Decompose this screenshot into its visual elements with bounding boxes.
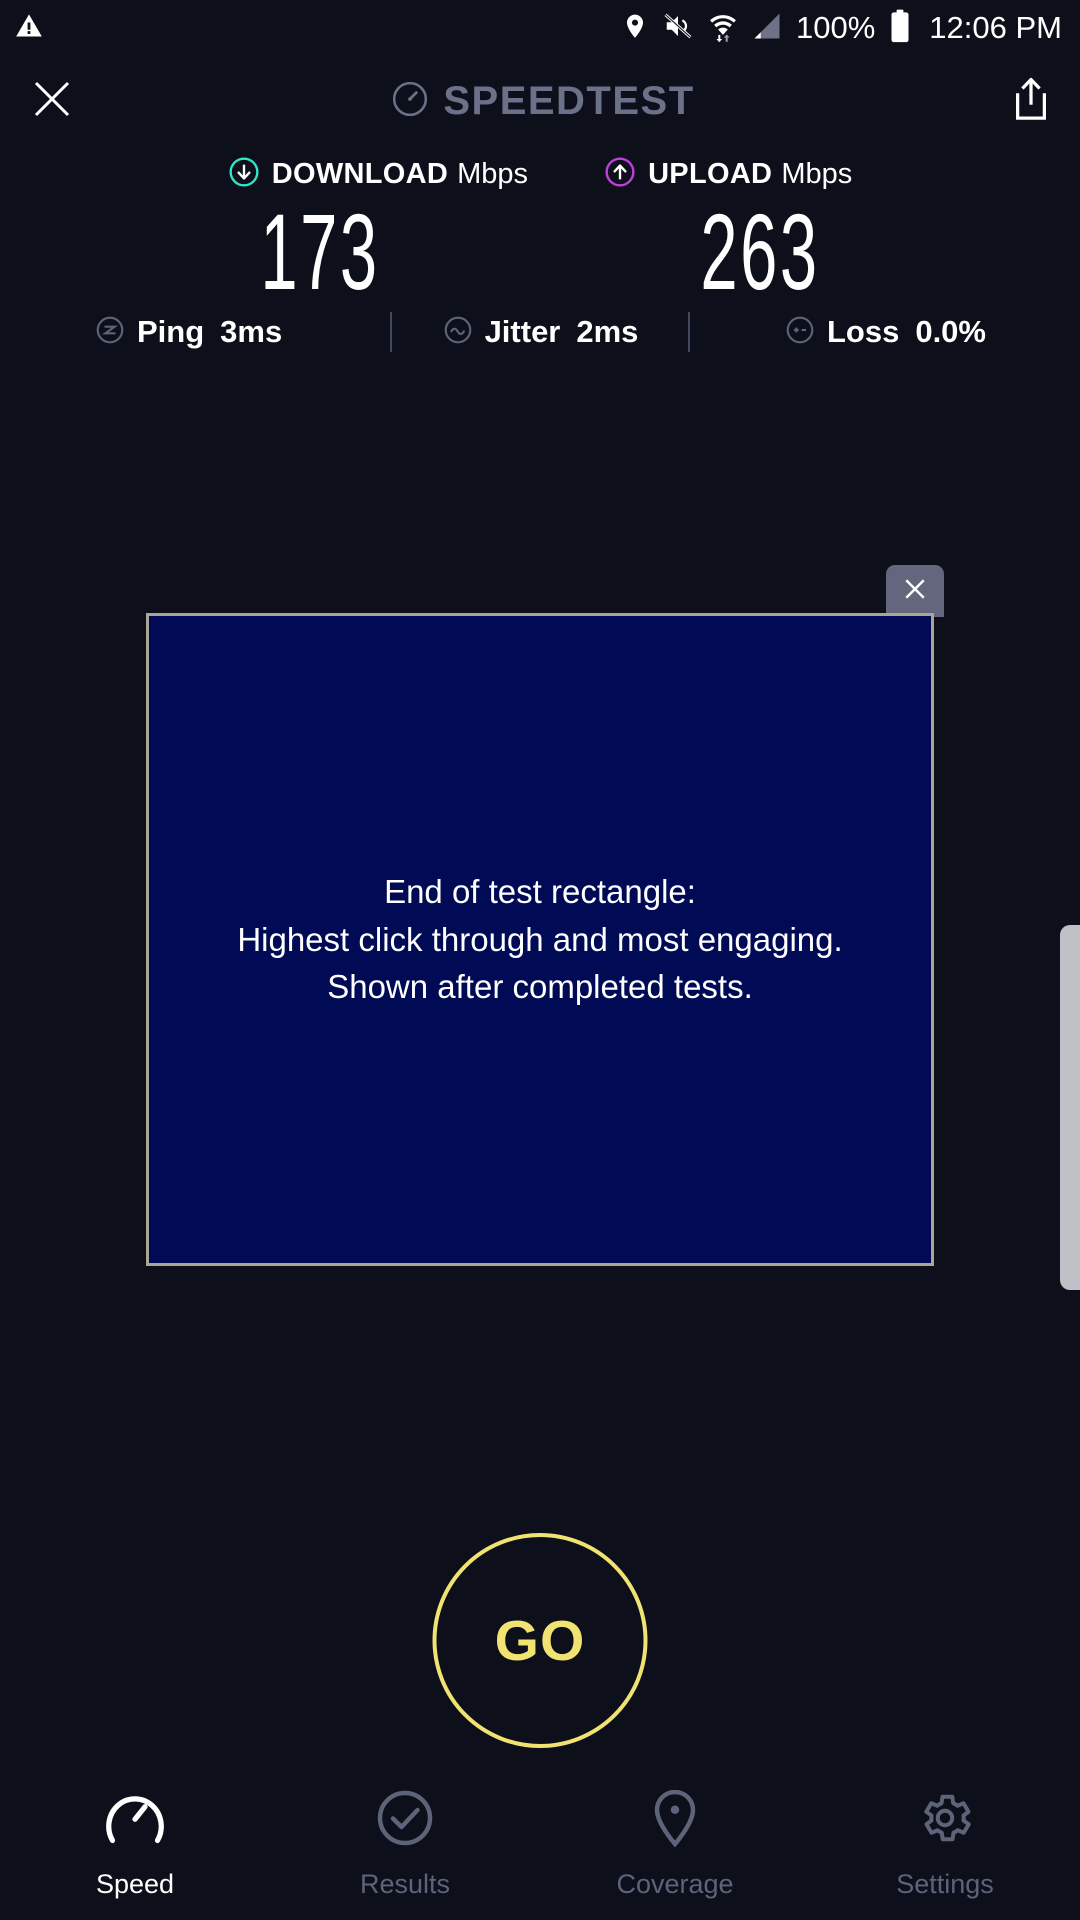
network-stats-row: Ping 3ms Jitter 2ms <box>0 300 1080 364</box>
tab-settings-label: Settings <box>896 1869 994 1900</box>
brand: SPEEDTEST <box>391 79 694 124</box>
upload-unit: Mbps <box>781 158 852 191</box>
status-bar-right: 100% 12:06 PM <box>622 9 1062 48</box>
go-button-label: GO <box>495 1608 586 1674</box>
speedometer-icon <box>102 1788 168 1853</box>
cellular-signal-icon <box>752 12 782 45</box>
volume-muted-icon <box>662 11 694 46</box>
page-title: SPEEDTEST <box>443 79 694 124</box>
wifi-icon <box>708 10 738 47</box>
tab-speed-label: Speed <box>96 1869 174 1900</box>
download-unit: Mbps <box>457 158 528 191</box>
tab-speed[interactable]: Speed <box>0 1788 270 1900</box>
jitter-label: Jitter <box>485 314 561 350</box>
android-status-bar: 100% 12:06 PM <box>0 0 1080 56</box>
jitter-value: 2ms <box>576 314 638 350</box>
map-pin-icon <box>647 1788 703 1853</box>
download-label: DOWNLOAD <box>272 158 448 191</box>
download-arrow-icon <box>228 156 260 193</box>
clock-label: 12:06 PM <box>929 10 1062 46</box>
close-icon[interactable] <box>28 75 76 128</box>
upload-label: UPLOAD <box>648 158 772 191</box>
upload-header: UPLOAD Mbps <box>604 156 852 193</box>
tab-coverage-label: Coverage <box>616 1869 733 1900</box>
tab-results-label: Results <box>360 1869 450 1900</box>
gear-icon <box>914 1788 976 1853</box>
warning-triangle-icon <box>14 12 44 45</box>
status-bar-left <box>14 12 44 45</box>
metric-headers: DOWNLOAD Mbps UPLOAD Mbps <box>0 148 1080 200</box>
tab-settings[interactable]: Settings <box>810 1788 1080 1900</box>
speedometer-icon <box>391 80 429 123</box>
metric-values: 173 263 <box>0 198 1080 306</box>
jitter-icon <box>442 314 474 351</box>
download-value: 173 <box>239 198 400 306</box>
battery-full-icon <box>889 9 911 48</box>
speedtest-app-screen: 100% 12:06 PM <box>0 0 1080 1920</box>
ad-line-3: Shown after completed tests. <box>237 963 842 1011</box>
ad-text-block: End of test rectangle: Highest click thr… <box>237 868 842 1012</box>
upload-arrow-icon <box>604 156 636 193</box>
stat-loss: Loss 0.0% <box>690 314 986 351</box>
ping-value: 3ms <box>220 314 282 350</box>
close-icon <box>900 574 930 609</box>
tab-results[interactable]: Results <box>270 1788 540 1900</box>
advertisement-banner[interactable]: End of test rectangle: Highest click thr… <box>146 613 934 1266</box>
ad-line-2: Highest click through and most engaging. <box>237 916 842 964</box>
stat-ping: Ping 3ms <box>94 314 390 351</box>
ad-close-button[interactable] <box>886 565 944 617</box>
download-header: DOWNLOAD Mbps <box>228 156 528 193</box>
loss-value: 0.0% <box>915 314 986 350</box>
check-circle-icon <box>374 1788 436 1853</box>
bottom-tab-bar: Speed Results Coverage <box>0 1772 1080 1920</box>
share-icon[interactable] <box>1010 76 1052 127</box>
battery-percent-label: 100% <box>796 10 875 46</box>
stat-jitter: Jitter 2ms <box>392 314 688 351</box>
loss-label: Loss <box>827 314 899 350</box>
location-pin-icon <box>622 11 648 46</box>
loss-icon <box>784 314 816 351</box>
ping-icon <box>94 314 126 351</box>
upload-value: 263 <box>679 198 840 306</box>
ping-label: Ping <box>137 314 204 350</box>
go-button[interactable]: GO <box>433 1533 648 1748</box>
results-summary: DOWNLOAD Mbps UPLOAD Mbps 173 263 <box>0 148 1080 306</box>
scrollbar-thumb[interactable] <box>1060 925 1080 1290</box>
tab-coverage[interactable]: Coverage <box>540 1788 810 1900</box>
ad-line-1: End of test rectangle: <box>237 868 842 916</box>
app-header: SPEEDTEST <box>0 56 1080 146</box>
